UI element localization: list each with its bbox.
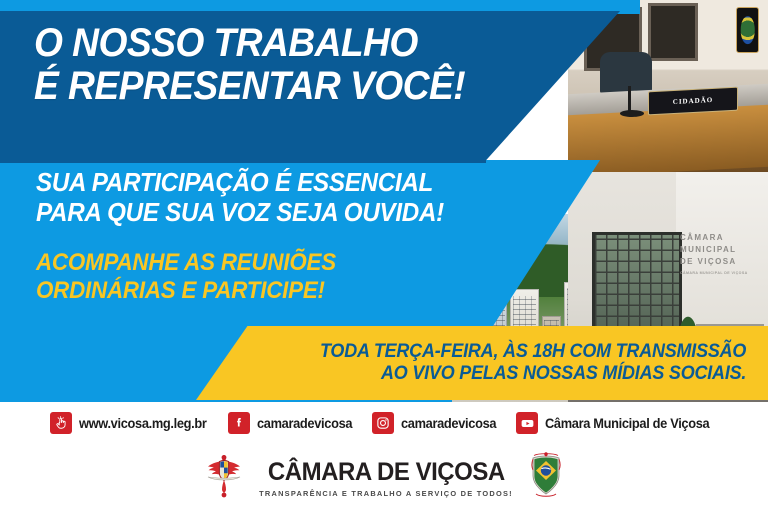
headline-line-1: O NOSSO TRABALHO bbox=[34, 22, 465, 65]
callout-line-1: ACOMPANHE AS REUNIÕES bbox=[36, 249, 336, 277]
click-hand-icon bbox=[50, 412, 72, 434]
youtube-icon bbox=[516, 412, 538, 434]
footer: www.vicosa.mg.leg.br camaradevicosa bbox=[0, 402, 768, 512]
callout-line-2: ORDINÁRIAS E PARTICIPE! bbox=[36, 277, 336, 305]
social-label-youtube: Câmara Municipal de Viçosa bbox=[545, 416, 709, 431]
social-links-row: www.vicosa.mg.leg.br camaradevicosa bbox=[0, 412, 768, 434]
facebook-icon bbox=[228, 412, 250, 434]
subheadline-line-1: SUA PARTICIPAÇÃO É ESSENCIAL bbox=[36, 168, 444, 198]
social-link-website[interactable]: www.vicosa.mg.leg.br bbox=[50, 412, 213, 434]
logo-text-block: CÂMARA DE VIÇOSA TRANSPARÊNCIA E TRABALH… bbox=[259, 460, 513, 497]
callout-text: ACOMPANHE AS REUNIÕES ORDINÁRIAS E PARTI… bbox=[36, 249, 336, 305]
instagram-icon bbox=[372, 412, 394, 434]
social-label-website: www.vicosa.mg.leg.br bbox=[79, 416, 207, 431]
headline-line-2: É REPRESENTAR VOCÊ! bbox=[34, 65, 465, 108]
logo-tagline: TRANSPARÊNCIA E TRABALHO A SERVIÇO DE TO… bbox=[259, 490, 513, 497]
building-signage: CÂMARA MUNICIPAL DE VIÇOSA CÂMARA MUNICI… bbox=[680, 232, 760, 276]
social-label-instagram: camaradevicosa bbox=[401, 416, 496, 431]
social-link-youtube[interactable]: Câmara Municipal de Viçosa bbox=[516, 412, 718, 434]
subheadline-line-2: PARA QUE SUA VOZ SEJA OUVIDA! bbox=[36, 198, 444, 228]
vicosa-shield-icon bbox=[522, 450, 570, 507]
social-label-facebook: camaradevicosa bbox=[257, 416, 352, 431]
promotional-banner: CÂMARA MUNICIPAL DE VIÇOSA CÂMARA MUNICI… bbox=[0, 0, 768, 512]
podium bbox=[684, 0, 764, 120]
schedule-line-2: AO VIVO PELAS NOSSAS MÍDIAS SOCIAIS. bbox=[320, 363, 746, 385]
logo-title: CÂMARA DE VIÇOSA bbox=[268, 460, 505, 485]
social-link-facebook[interactable]: camaradevicosa bbox=[228, 412, 357, 434]
brazil-seal-icon bbox=[741, 16, 756, 44]
headline: O NOSSO TRABALHO É REPRESENTAR VOCÊ! bbox=[34, 22, 465, 108]
schedule-banner: TODA TERÇA-FEIRA, ÀS 18H COM TRANSMISSÃO… bbox=[196, 326, 768, 400]
schedule-line-1: TODA TERÇA-FEIRA, ÀS 18H COM TRANSMISSÃO bbox=[320, 341, 746, 363]
subheadline: SUA PARTICIPAÇÃO É ESSENCIAL PARA QUE SU… bbox=[36, 168, 444, 227]
eagle-crest-icon bbox=[198, 451, 250, 506]
institutional-logo: CÂMARA DE VIÇOSA TRANSPARÊNCIA E TRABALH… bbox=[0, 450, 768, 507]
social-link-instagram[interactable]: camaradevicosa bbox=[372, 412, 501, 434]
